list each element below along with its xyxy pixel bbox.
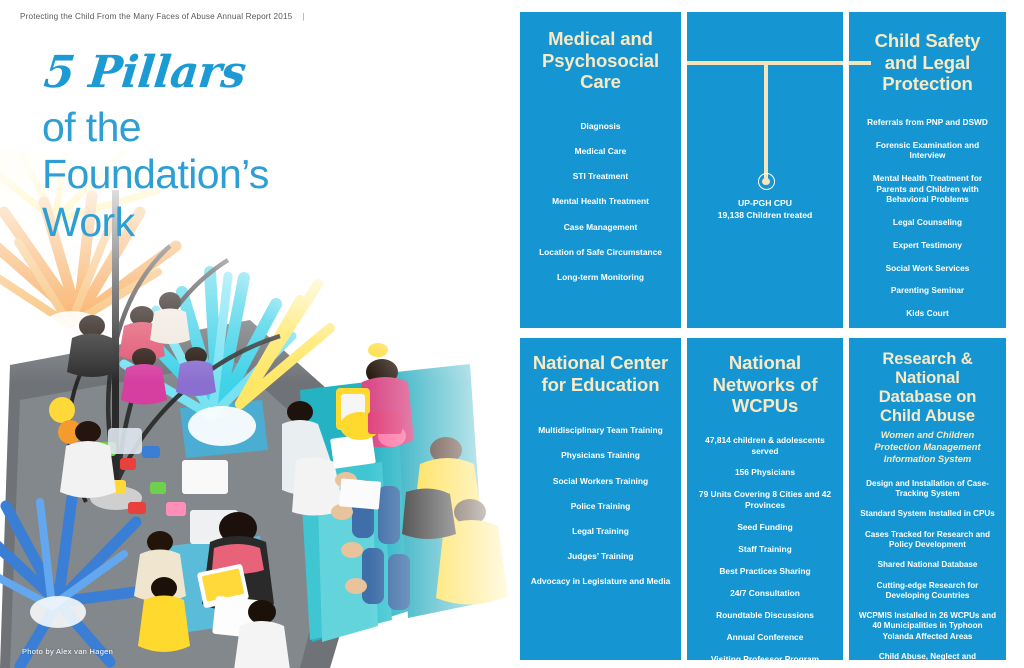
connector-vertical-line [764,61,768,180]
list-item: WCPMIS Installed in 26 WCPUs and 40 Muni… [857,611,998,642]
list-item: 24/7 Consultation [695,588,835,599]
panel-education-list: Multidisciplinary Team Training Physicia… [528,425,673,587]
panel-research-list: Design and Installation of Case-Tracking… [857,479,998,660]
panel-networks-list: 47,814 children & adolescents served 156… [695,435,835,660]
panel-safety-list: Referrals from PNP and DSWD Forensic Exa… [857,117,998,319]
panel-national-networks-wcpus: National Networks of WCPUs 47,814 childr… [687,338,843,660]
list-item: 156 Physicians [695,467,835,478]
panel-education-title: National Center for Education [528,352,673,395]
list-item: Visiting Professor Program [695,654,835,660]
connector-caption-line-1: UP-PGH CPU [687,198,843,210]
list-item: Shared National Database [857,560,998,570]
list-item: Multidisciplinary Team Training [528,425,673,436]
connector-caption: UP-PGH CPU 19,138 Children treated [687,198,843,221]
panel-medical-psychosocial-care: Medical and Psychosocial Care Diagnosis … [520,12,681,328]
list-item: Social Work Services [857,263,998,273]
list-item: Roundtable Discussions [695,610,835,621]
list-item: Physicians Training [528,450,673,461]
list-item: Case Management [528,222,673,233]
list-item: Diagnosis [528,121,673,132]
panel-connector-up-pgh-cpu: UP-PGH CPU 19,138 Children treated [687,12,843,328]
list-item: Standard System Installed in CPUs [857,509,998,519]
list-item: Mental Health Treatment for Parents and … [857,173,998,204]
panel-child-safety-legal-protection: Child Safety and Legal Protection Referr… [849,12,1006,328]
list-item: Legal Counseling [857,217,998,227]
list-item: Design and Installation of Case-Tracking… [857,479,998,499]
running-header-separator: | [292,12,304,21]
panel-research-title: Research & National Database on Child Ab… [857,350,998,426]
list-item: Police Training [528,501,673,512]
list-item: Staff Training [695,544,835,555]
list-item: Expert Testimony [857,240,998,250]
title-rest: of the Foundation’s Work [42,104,269,247]
list-item: STI Treatment [528,171,673,182]
list-item: Child Abuse, Neglect and Exploitation St… [857,652,998,660]
panel-medical-title: Medical and Psychosocial Care [528,28,673,93]
panel-networks-title: National Networks of WCPUs [695,352,835,417]
list-item: Seed Funding [695,522,835,533]
connector-stub-line [849,61,871,65]
list-item: Location of Safe Circumstance [528,247,673,258]
list-item: Cutting-edge Research for Developing Cou… [857,581,998,601]
left-column: Protecting the Child From the Many Faces… [0,0,512,668]
list-item: Annual Conference [695,632,835,643]
list-item: 47,814 children & adolescents served [695,435,835,456]
list-item: Referrals from PNP and DSWD [857,117,998,127]
list-item: Judges’ Training [528,551,673,562]
panel-research-subtitle: Women and Children Protection Management… [857,429,998,466]
list-item: Mental Health Treatment [528,196,673,207]
pillars-panel-grid: Medical and Psychosocial Care Diagnosis … [520,12,1006,660]
title-script: 5 Pillars [42,52,273,94]
list-item: Long-term Monitoring [528,272,673,283]
connector-node-marker-icon [758,173,775,190]
title-line-1: of the [42,104,269,152]
running-header-text: Protecting the Child From the Many Faces… [20,12,292,21]
panel-research-national-database: Research & National Database on Child Ab… [849,338,1006,660]
list-item: Best Practices Sharing [695,566,835,577]
list-item: Social Workers Training [528,476,673,487]
title-line-3: Work [42,199,269,247]
panel-safety-title: Child Safety and Legal Protection [857,30,998,95]
running-header: Protecting the Child From the Many Faces… [20,12,305,21]
list-item: 79 Units Covering 8 Cities and 42 Provin… [695,489,835,510]
title-line-2: Foundation’s [42,151,269,199]
list-item: Kids Court [857,308,998,318]
page-title: 5 Pillars of the Foundation’s Work [42,52,269,246]
connector-caption-line-2: 19,138 Children treated [687,210,843,222]
panel-national-center-education: National Center for Education Multidisci… [520,338,681,660]
list-item: Forensic Examination and Interview [857,140,998,161]
list-item: Legal Training [528,526,673,537]
connector-node-dot-icon [762,178,770,186]
list-item: Cases Tracked for Research and Policy De… [857,530,998,550]
photo-credit: Photo by Alex van Hagen [22,647,113,656]
panel-medical-list: Diagnosis Medical Care STI Treatment Men… [528,121,673,283]
list-item: Parenting Seminar [857,285,998,295]
list-item: Advocacy in Legislature and Media [528,576,673,587]
list-item: Medical Care [528,146,673,157]
